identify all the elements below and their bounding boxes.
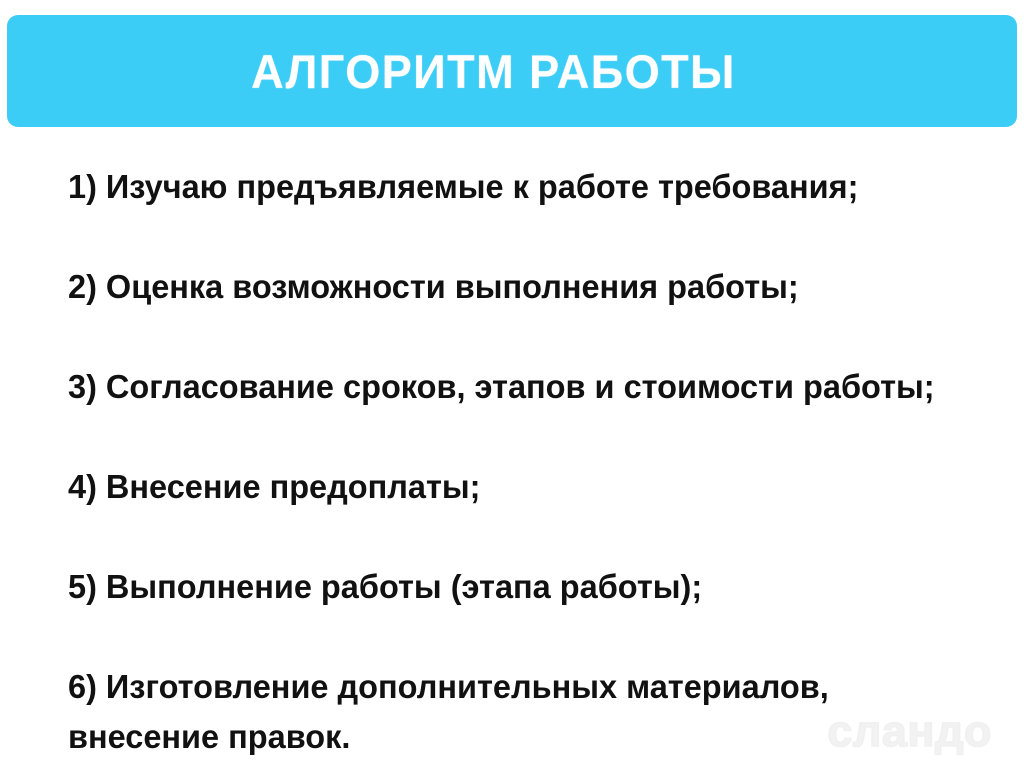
list-item: 6) Изготовление дополнительных материало… [68,662,999,762]
algorithm-steps-list: 1) Изучаю предъявляемые к работе требова… [68,162,1013,762]
header-banner: АЛГОРИТМ РАБОТЫ [7,15,1017,127]
list-item: 2) Оценка возможности выполнения работы; [68,262,999,312]
list-item: 4) Внесение предоплаты; [68,462,999,512]
list-item: 1) Изучаю предъявляемые к работе требова… [68,162,999,212]
page-title: АЛГОРИТМ РАБОТЫ [251,48,736,95]
list-item: 5) Выполнение работы (этапа работы); [68,562,999,612]
list-item: 3) Согласование сроков, этапов и стоимос… [68,362,999,412]
slide-canvas: АЛГОРИТМ РАБОТЫ 1) Изучаю предъявляемые … [0,0,1024,768]
